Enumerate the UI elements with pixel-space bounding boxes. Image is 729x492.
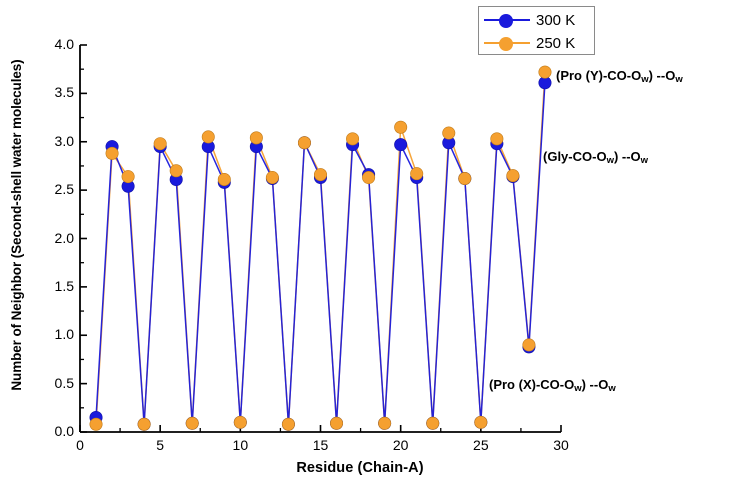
series-markers-300-k — [90, 77, 551, 431]
data-point — [475, 416, 487, 428]
legend[interactable]: 300 K 250 K — [478, 6, 595, 55]
data-point — [186, 417, 198, 429]
data-point — [507, 169, 519, 181]
data-point — [362, 171, 374, 183]
data-point — [298, 137, 310, 149]
legend-label-300k: 300 K — [536, 12, 575, 29]
legend-entry-300k[interactable]: 300 K — [479, 8, 596, 32]
annotation-subscript: w — [675, 74, 682, 85]
data-point — [170, 165, 182, 177]
data-point — [106, 147, 118, 159]
data-point — [202, 131, 214, 143]
data-point — [90, 418, 102, 430]
data-point — [234, 416, 246, 428]
annotation-gly: (Gly-CO-Ow) --Ow — [543, 149, 648, 166]
data-point — [138, 418, 150, 430]
chart-figure: Number of Neighbor (Second-shell water m… — [0, 0, 729, 492]
x-axis-title: Residue (Chain-A) — [80, 460, 640, 476]
data-point — [411, 167, 423, 179]
annotation-subscript: w — [641, 74, 648, 85]
data-point — [443, 127, 455, 139]
data-point — [314, 168, 326, 180]
legend-label-250k: 250 K — [536, 35, 575, 52]
data-point — [378, 417, 390, 429]
data-point — [539, 66, 551, 78]
legend-swatch-300k — [484, 13, 530, 27]
data-point — [218, 173, 230, 185]
data-point — [282, 418, 294, 430]
data-point — [491, 133, 503, 145]
data-point — [346, 133, 358, 145]
data-point — [459, 172, 471, 184]
annotation-pro-x: (Pro (X)-CO-Ow) --Ow — [489, 377, 616, 394]
data-point — [523, 339, 535, 351]
data-point — [394, 138, 406, 150]
series-markers-250-k — [90, 66, 551, 431]
series-line-300-k — [96, 83, 545, 425]
legend-entry-250k[interactable]: 250 K — [479, 31, 596, 55]
data-point — [250, 132, 262, 144]
data-point — [330, 417, 342, 429]
annotation-subscript: w — [607, 155, 614, 166]
annotation-subscript: w — [641, 155, 648, 166]
legend-swatch-250k — [484, 36, 530, 50]
data-point — [427, 417, 439, 429]
data-point — [154, 137, 166, 149]
annotation-subscript: w — [574, 383, 581, 394]
annotation-subscript: w — [608, 383, 615, 394]
data-point — [266, 171, 278, 183]
annotation-pro-y: (Pro (Y)-CO-Ow) --Ow — [556, 68, 683, 85]
data-point — [122, 170, 134, 182]
data-point — [394, 121, 406, 133]
